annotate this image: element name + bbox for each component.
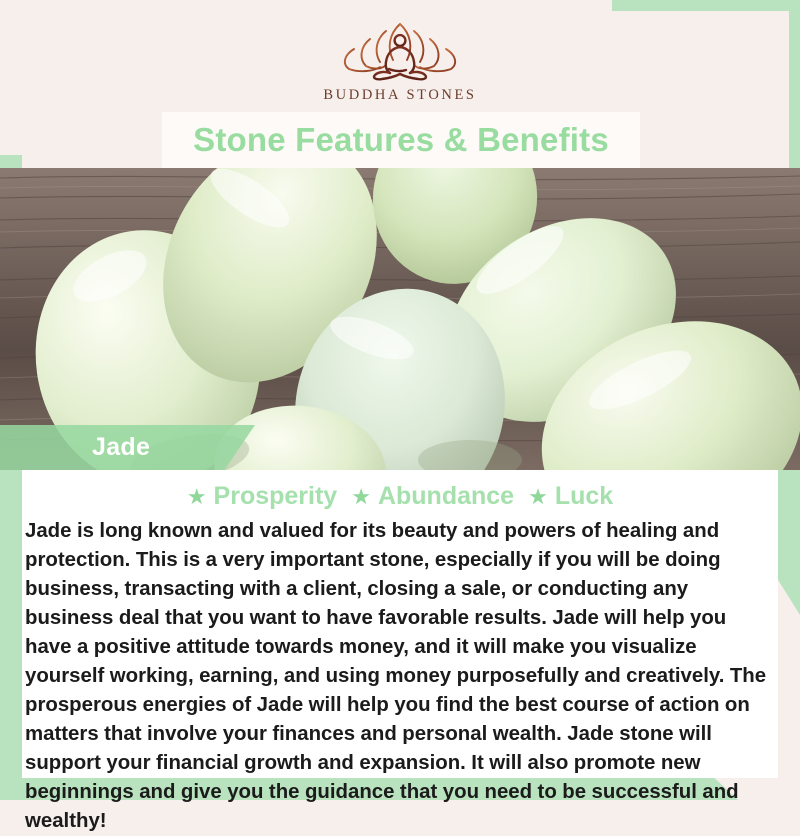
keyword-label-prosperity: Prosperity — [214, 482, 338, 511]
star-icon: ★ — [351, 486, 371, 508]
stone-name-banner: Jade — [0, 425, 255, 470]
stone-photo — [0, 168, 800, 470]
keyword-item: ★ Prosperity — [187, 482, 337, 511]
keyword-item: ★ Abundance — [351, 482, 514, 511]
stone-photo-graphic — [0, 168, 800, 470]
stone-description: Jade is long known and valued for its be… — [22, 513, 778, 836]
stone-name-label: Jade — [92, 433, 150, 462]
keyword-item: ★ Luck — [528, 482, 613, 511]
brand-wordmark: BUDDHA STONES — [323, 87, 476, 104]
star-icon: ★ — [187, 486, 207, 508]
lotus-meditation-icon — [326, 18, 474, 82]
keyword-label-abundance: Abundance — [378, 482, 514, 511]
star-icon: ★ — [528, 486, 548, 508]
keyword-label-luck: Luck — [555, 482, 613, 511]
content-panel: ★ Prosperity ★ Abundance ★ Luck Jade is … — [22, 470, 778, 778]
page-title: Stone Features & Benefits — [193, 121, 609, 159]
brand-header: BUDDHA STONES — [0, 0, 800, 118]
keyword-list: ★ Prosperity ★ Abundance ★ Luck — [22, 482, 778, 511]
page-title-banner: Stone Features & Benefits — [162, 112, 640, 168]
